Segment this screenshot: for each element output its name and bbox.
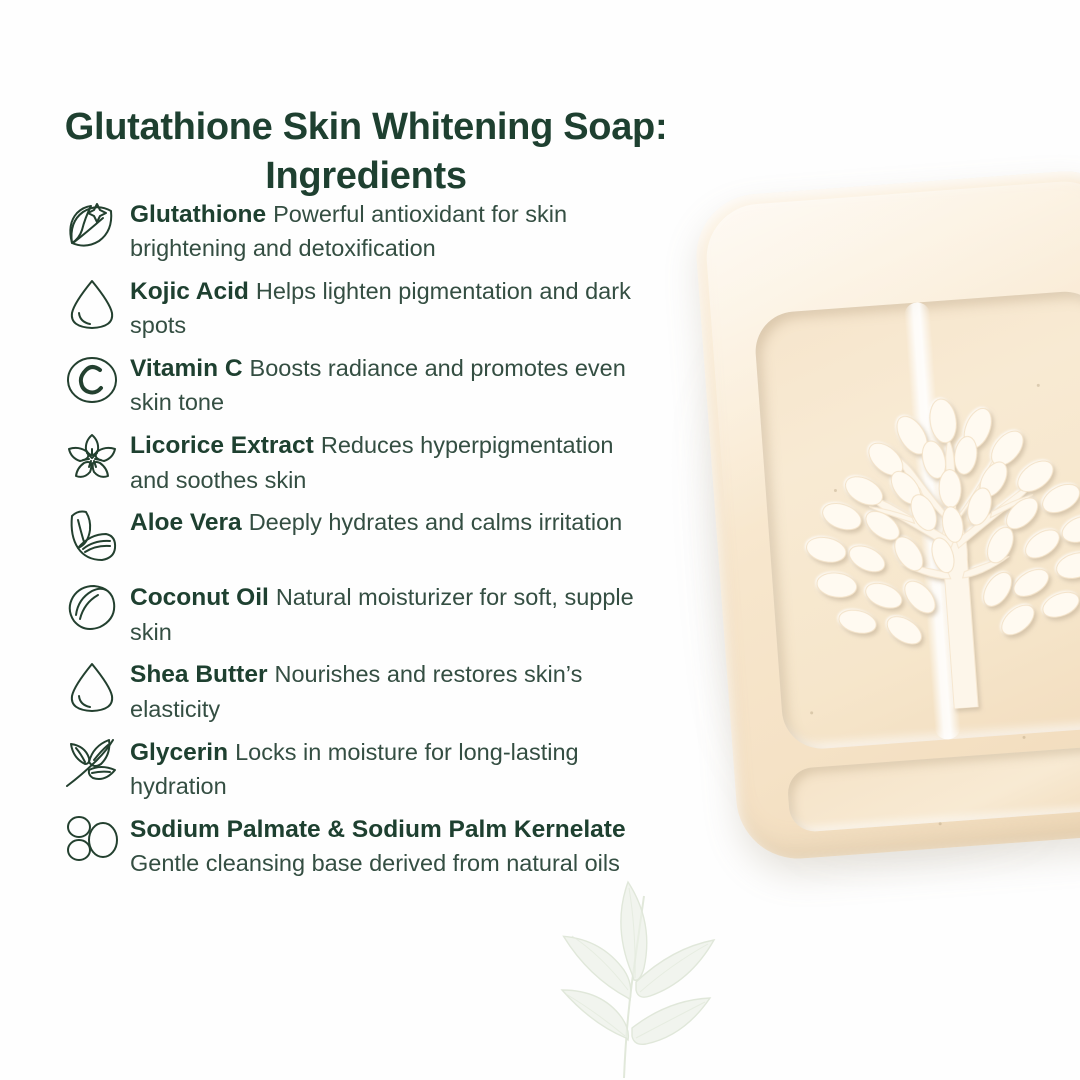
water-droplet-icon bbox=[54, 273, 130, 341]
soap-drop-shadow bbox=[673, 184, 1080, 876]
aloe-leaves-icon bbox=[54, 504, 130, 572]
list-item: GlycerinLocks in moisture for long-lasti… bbox=[54, 734, 654, 804]
ingredient-name: Aloe Vera bbox=[130, 509, 242, 536]
list-item-text: Shea ButterNourishes and restores skin’s… bbox=[130, 656, 654, 726]
coconut-icon bbox=[54, 579, 130, 647]
list-item-text: GlycerinLocks in moisture for long-lasti… bbox=[130, 734, 654, 804]
list-item-text: Sodium Palmate & Sodium Palm KernelateGe… bbox=[130, 811, 654, 881]
ingredient-name: Licorice Extract bbox=[130, 432, 314, 459]
list-item: Sodium Palmate & Sodium Palm KernelateGe… bbox=[54, 811, 654, 881]
ingredient-name: Sodium Palmate & Sodium Palm Kernelate bbox=[130, 816, 626, 843]
page-title: Glutathione Skin Whitening Soap: Ingredi… bbox=[56, 103, 676, 200]
list-item: GlutathionePowerful antioxidant for skin… bbox=[54, 196, 654, 266]
list-item-text: Licorice ExtractReduces hyperpigmentatio… bbox=[130, 427, 654, 497]
shea-droplet-icon bbox=[54, 656, 130, 724]
ingredient-name: Vitamin C bbox=[130, 355, 243, 382]
soap-recessed-panel bbox=[753, 289, 1080, 751]
list-item-text: GlutathionePowerful antioxidant for skin… bbox=[130, 196, 654, 266]
tree-of-life-emboss bbox=[757, 296, 1080, 721]
list-item-text: Kojic AcidHelps lighten pigmentation and… bbox=[130, 273, 654, 343]
ingredient-description: Deeply hydrates and calms irritation bbox=[249, 509, 623, 535]
soap-lower-panel bbox=[786, 744, 1080, 833]
list-item: Licorice ExtractReduces hyperpigmentatio… bbox=[54, 427, 654, 497]
list-item: Vitamin CBoosts radiance and promotes ev… bbox=[54, 350, 654, 420]
page-title-line-2: Ingredients bbox=[56, 152, 676, 201]
ingredient-name: Glutathione bbox=[130, 201, 266, 228]
soap-panel-divider bbox=[903, 302, 961, 741]
ingredient-list: GlutathionePowerful antioxidant for skin… bbox=[54, 196, 654, 888]
soap-bevel-highlight bbox=[703, 178, 1080, 852]
list-item: Shea ButterNourishes and restores skin’s… bbox=[54, 656, 654, 726]
list-item: Coconut OilNatural moisturizer for soft,… bbox=[54, 579, 654, 649]
leaf-branch-icon bbox=[54, 734, 130, 802]
ingredient-name: Coconut Oil bbox=[130, 584, 269, 611]
ingredient-name: Glycerin bbox=[130, 739, 228, 766]
list-item: Kojic AcidHelps lighten pigmentation and… bbox=[54, 273, 654, 343]
page-title-line-1: Glutathione Skin Whitening Soap: bbox=[56, 103, 676, 152]
list-item: Aloe VeraDeeply hydrates and calms irrit… bbox=[54, 504, 654, 572]
list-item-text: Coconut OilNatural moisturizer for soft,… bbox=[130, 579, 654, 649]
ingredient-description: Gentle cleansing base derived from natur… bbox=[130, 850, 620, 876]
flower-icon bbox=[54, 427, 130, 495]
ingredients-infographic: Glutathione Skin Whitening Soap: Ingredi… bbox=[0, 0, 1080, 1080]
list-item-text: Aloe VeraDeeply hydrates and calms irrit… bbox=[130, 504, 654, 540]
soap-bar-body bbox=[692, 167, 1080, 863]
soap-bar-photo bbox=[620, 120, 1080, 880]
ingredient-name: Kojic Acid bbox=[130, 278, 249, 305]
leaf-sprig-watermark bbox=[520, 878, 730, 1080]
ingredient-name: Shea Butter bbox=[130, 661, 268, 688]
list-item-text: Vitamin CBoosts radiance and promotes ev… bbox=[130, 350, 654, 420]
soap-beads-icon bbox=[54, 811, 130, 879]
vitamin-c-circle-icon bbox=[54, 350, 130, 418]
sparkle-leaf-icon bbox=[54, 196, 130, 264]
